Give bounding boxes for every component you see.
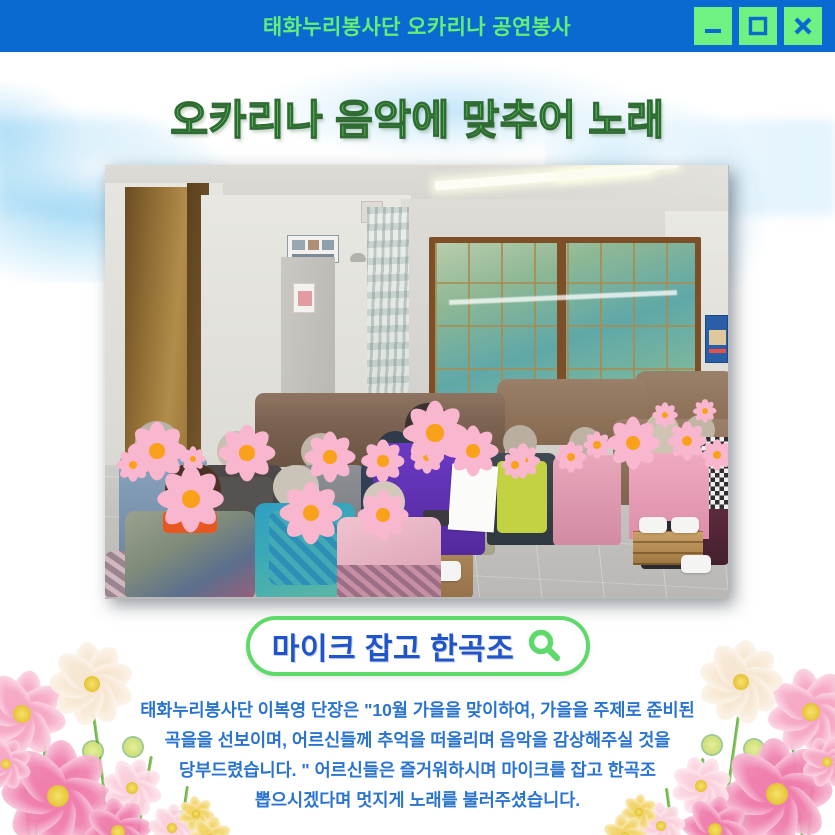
face-flower-sticker — [501, 451, 529, 479]
window-controls — [694, 7, 822, 45]
face-flower-sticker — [279, 481, 343, 545]
mic-highlight-label: 마이크 잡고 한곡조 — [272, 624, 514, 668]
description-line: 당부드렸습니다. " 어르신들은 즐거워하시며 마이크를 잡고 한곡조 — [60, 755, 775, 785]
close-icon — [792, 15, 814, 37]
face-flower-sticker — [693, 399, 717, 423]
curtain — [367, 207, 409, 415]
flower-stem — [807, 786, 814, 835]
maximize-icon — [747, 15, 769, 37]
minimize-button[interactable] — [694, 7, 732, 45]
maximize-button[interactable] — [739, 7, 777, 45]
face-flower-sticker — [218, 424, 276, 482]
wall-poster — [705, 315, 728, 363]
flower-stem — [34, 746, 47, 835]
face-flower-sticker — [402, 400, 468, 466]
title-bar: 태화누리봉사단 오카리나 공연봉사 — [0, 0, 835, 52]
description-line: 곡을을 선보이며, 어르신들께 추억을 떠올리며 음악을 감상해주실 것을 — [60, 725, 775, 755]
face-flower-sticker — [652, 402, 678, 428]
shoe — [681, 555, 711, 573]
description-line: 태화누리봉사단 이복영 단장은 "10월 가을을 맞이하여, 가을을 주제로 준… — [60, 695, 775, 725]
page-title: 오카리나 음악에 맞추어 노래 — [0, 86, 835, 146]
mic-highlight-button[interactable]: 마이크 잡고 한곡조 — [246, 616, 590, 676]
face-flower-sticker — [357, 489, 409, 541]
window-title: 태화누리봉사단 오카리나 공연봉사 — [0, 11, 694, 41]
person-trousers — [337, 565, 441, 597]
shoe — [639, 517, 667, 533]
security-camera — [350, 253, 366, 262]
face-flower-sticker — [157, 465, 225, 533]
face-flower-sticker — [304, 431, 356, 483]
event-photo — [105, 165, 728, 597]
description-line: 뽑으시겠다며 멋지게 노래를 불러주셨습니다. — [60, 785, 775, 815]
minimize-icon — [702, 15, 724, 37]
face-flower-sticker — [583, 431, 611, 459]
flower-stem — [791, 744, 804, 835]
door-sign — [293, 283, 315, 313]
search-icon — [524, 626, 564, 666]
face-flower-sticker — [701, 439, 728, 471]
close-button[interactable] — [784, 7, 822, 45]
flower-stem — [24, 786, 31, 835]
poster-card: 태화누리봉사단 오카리나 공연봉사 오카리나 음악에 맞추어 노래 — [0, 0, 835, 835]
face-flower-sticker — [361, 439, 405, 483]
shoe — [671, 517, 699, 533]
cosmos-flower — [793, 728, 835, 797]
cosmos-flower — [0, 730, 40, 799]
face-flower-sticker — [116, 448, 150, 482]
description-text: 태화누리봉사단 이복영 단장은 "10월 가을을 맞이하여, 가을을 주제로 준… — [60, 695, 775, 815]
